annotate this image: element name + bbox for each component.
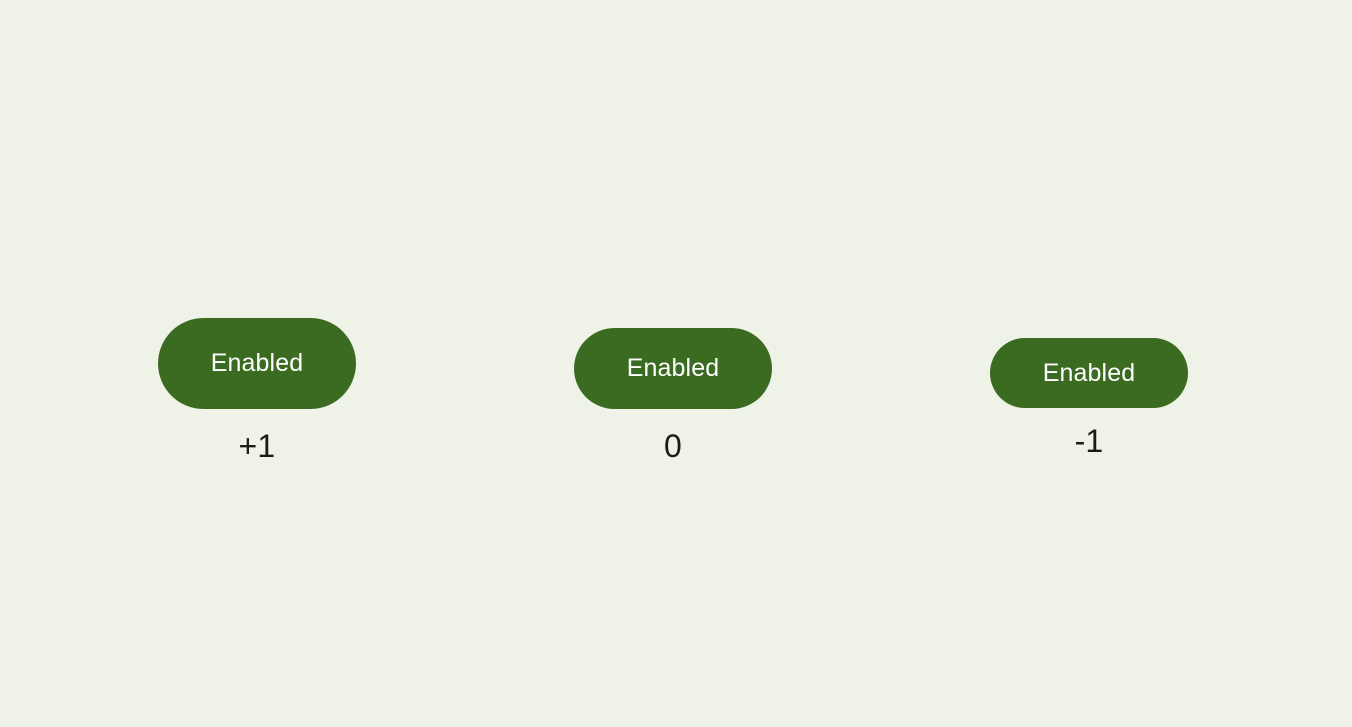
density-caption-zero: 0 <box>664 430 682 462</box>
density-group-minus-1: Enabled -1 <box>990 338 1188 457</box>
density-caption-plus-1: +1 <box>239 430 276 462</box>
density-group-zero: Enabled 0 <box>574 328 772 462</box>
density-caption-minus-1: -1 <box>1075 425 1104 457</box>
demo-stage: Enabled +1 Enabled 0 Enabled -1 <box>0 0 1352 727</box>
density-group-plus-1: Enabled +1 <box>158 318 356 462</box>
enabled-button-density-zero[interactable]: Enabled <box>574 328 772 409</box>
enabled-button-density-plus-1[interactable]: Enabled <box>158 318 356 409</box>
enabled-button-density-minus-1[interactable]: Enabled <box>990 338 1188 408</box>
